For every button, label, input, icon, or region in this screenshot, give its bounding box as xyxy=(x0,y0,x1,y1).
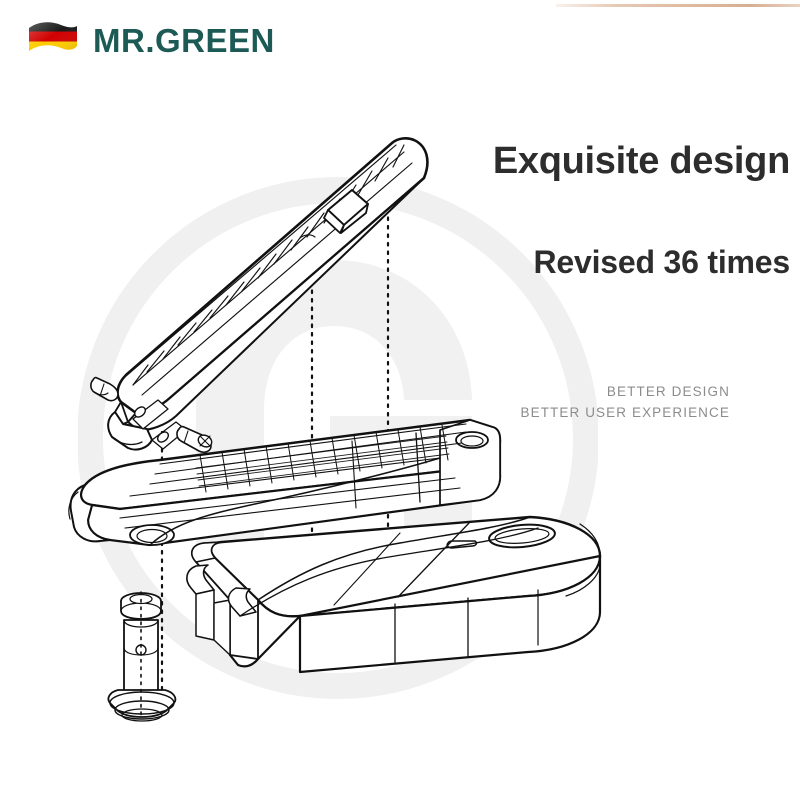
brand-logo[interactable]: MR.GREEN xyxy=(25,20,275,60)
headline-primary: Exquisite design xyxy=(493,142,790,180)
headline-secondary: Revised 36 times xyxy=(533,246,790,278)
brand-name: MR.GREEN xyxy=(93,24,275,57)
brand-watermark xyxy=(78,148,598,723)
tagline-better-user-experience: BETTER USER EXPERIENCE xyxy=(521,403,731,424)
german-flag-icon xyxy=(25,20,80,60)
top-accent-rule xyxy=(556,4,800,7)
product-banner: MR.GREEN Exquisite design Revised 36 tim… xyxy=(0,0,800,800)
tagline-better-design: BETTER DESIGN xyxy=(521,382,731,403)
tagline-group: BETTER DESIGN BETTER USER EXPERIENCE xyxy=(521,382,731,424)
